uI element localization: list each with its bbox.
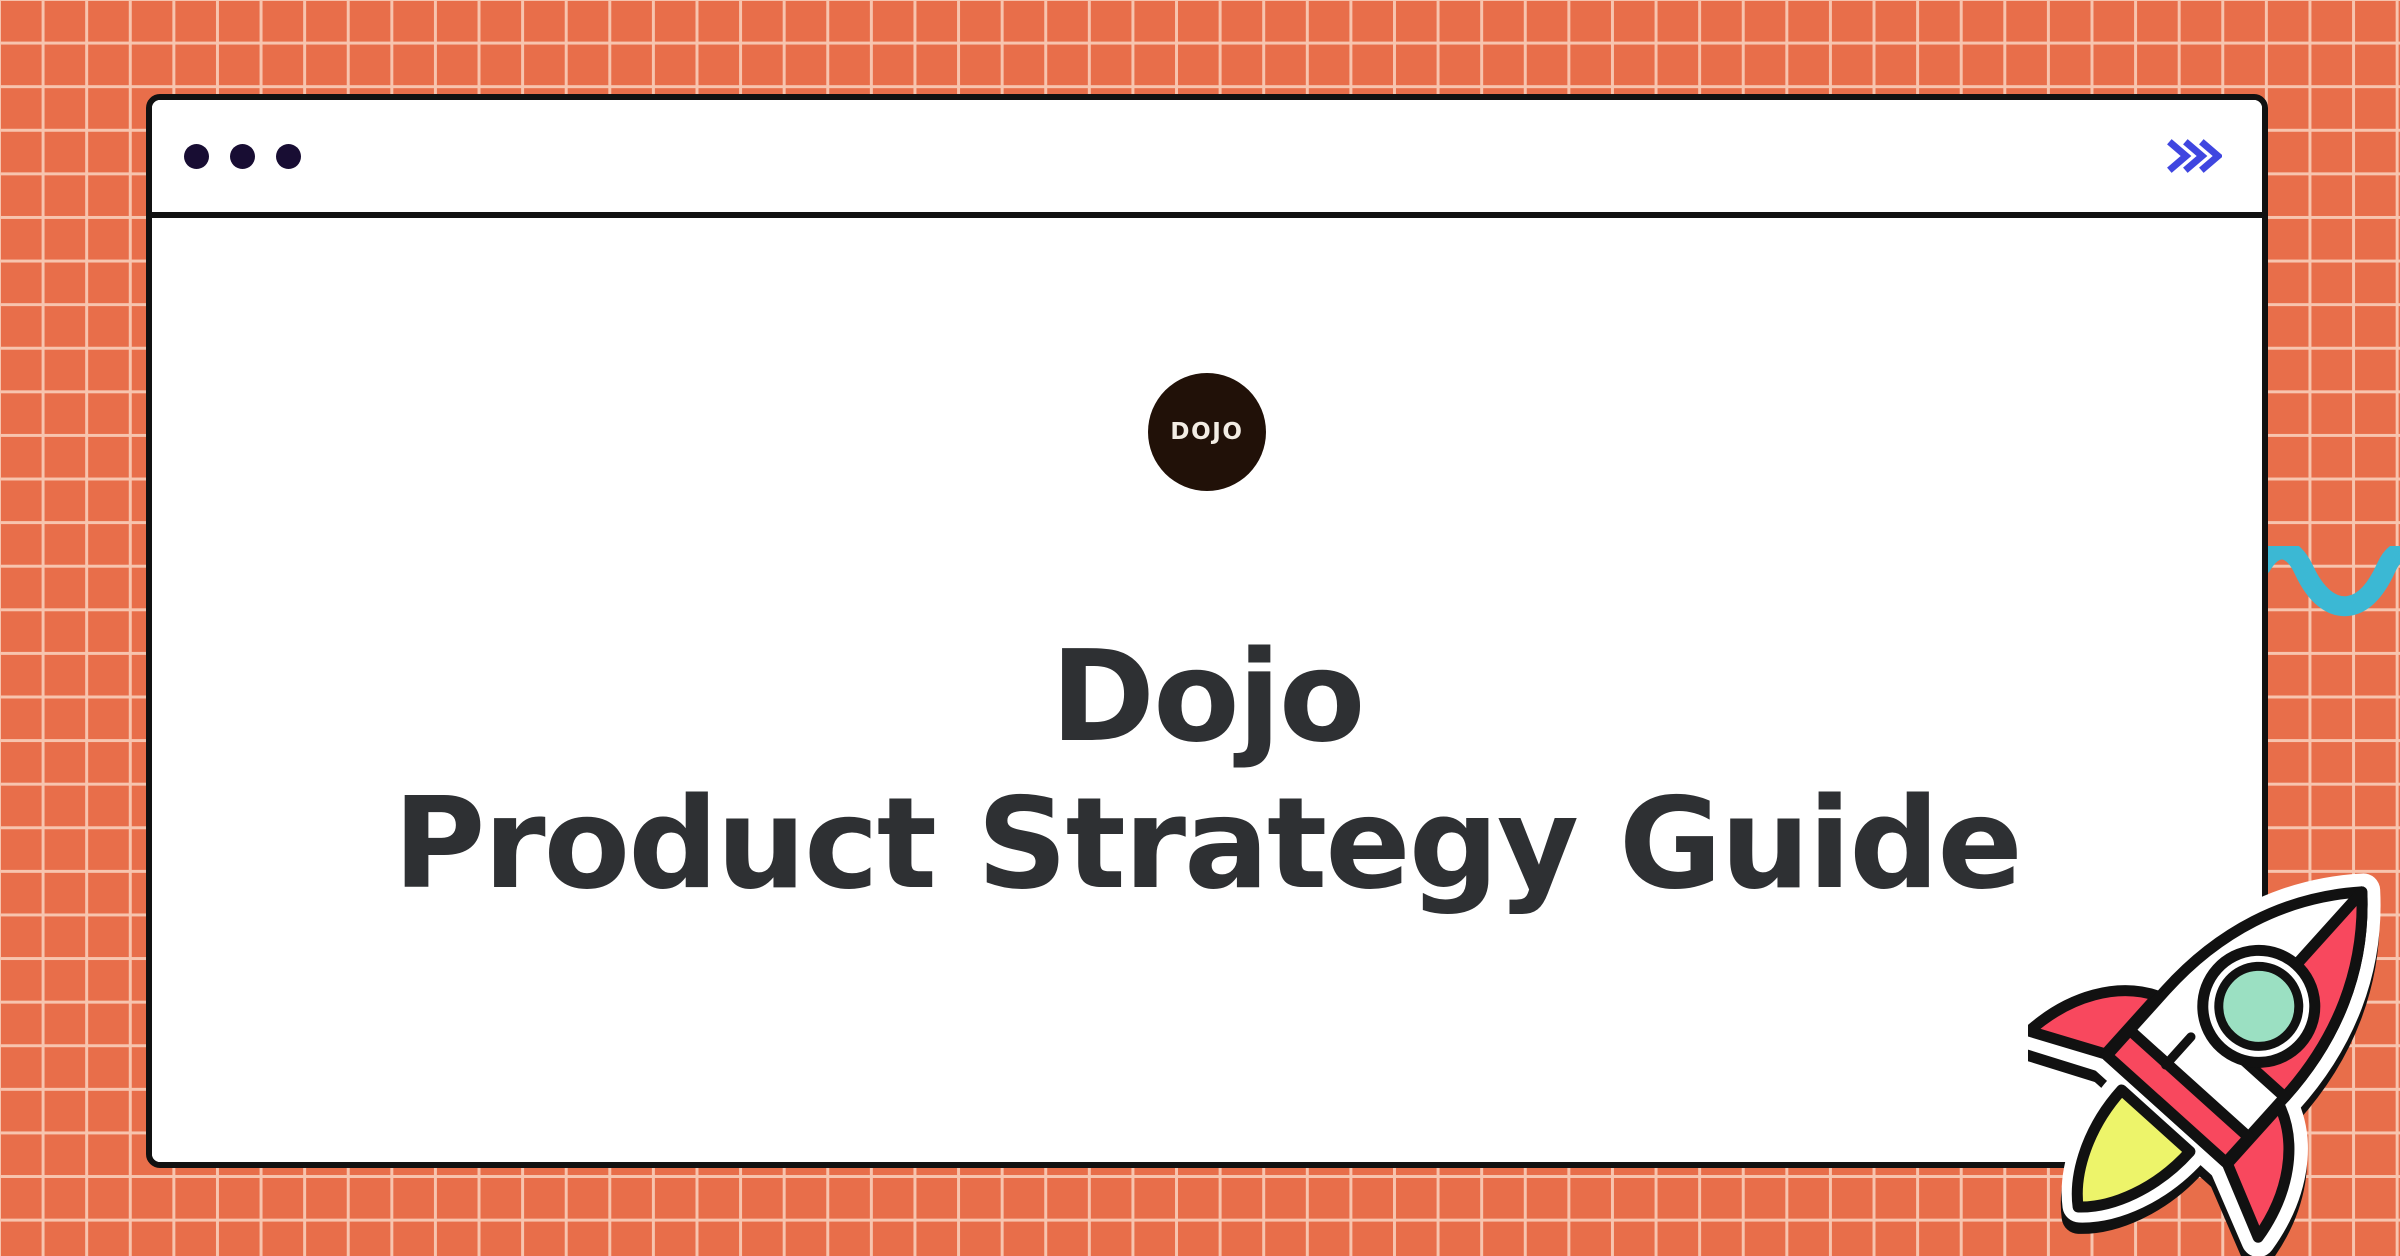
slide-content-area: DOJO Dojo Product Strategy Guide xyxy=(152,218,2262,1162)
window-title-bar xyxy=(152,100,2262,218)
double-chevron-right-icon[interactable] xyxy=(2166,138,2222,174)
slide-canvas: DOJO Dojo Product Strategy Guide xyxy=(0,0,2400,1256)
browser-window: DOJO Dojo Product Strategy Guide xyxy=(146,94,2268,1168)
window-dot-minimize[interactable] xyxy=(230,144,255,169)
dojo-logo-text: DOJO xyxy=(1170,419,1243,445)
window-dot-close[interactable] xyxy=(184,144,209,169)
window-controls[interactable] xyxy=(184,144,301,169)
page-title-line-1: Dojo xyxy=(152,624,2262,770)
dojo-logo: DOJO xyxy=(1148,373,1266,491)
page-title-line-2: Product Strategy Guide xyxy=(152,771,2262,917)
window-dot-maximize[interactable] xyxy=(276,144,301,169)
page-title: Dojo Product Strategy Guide xyxy=(152,624,2262,916)
